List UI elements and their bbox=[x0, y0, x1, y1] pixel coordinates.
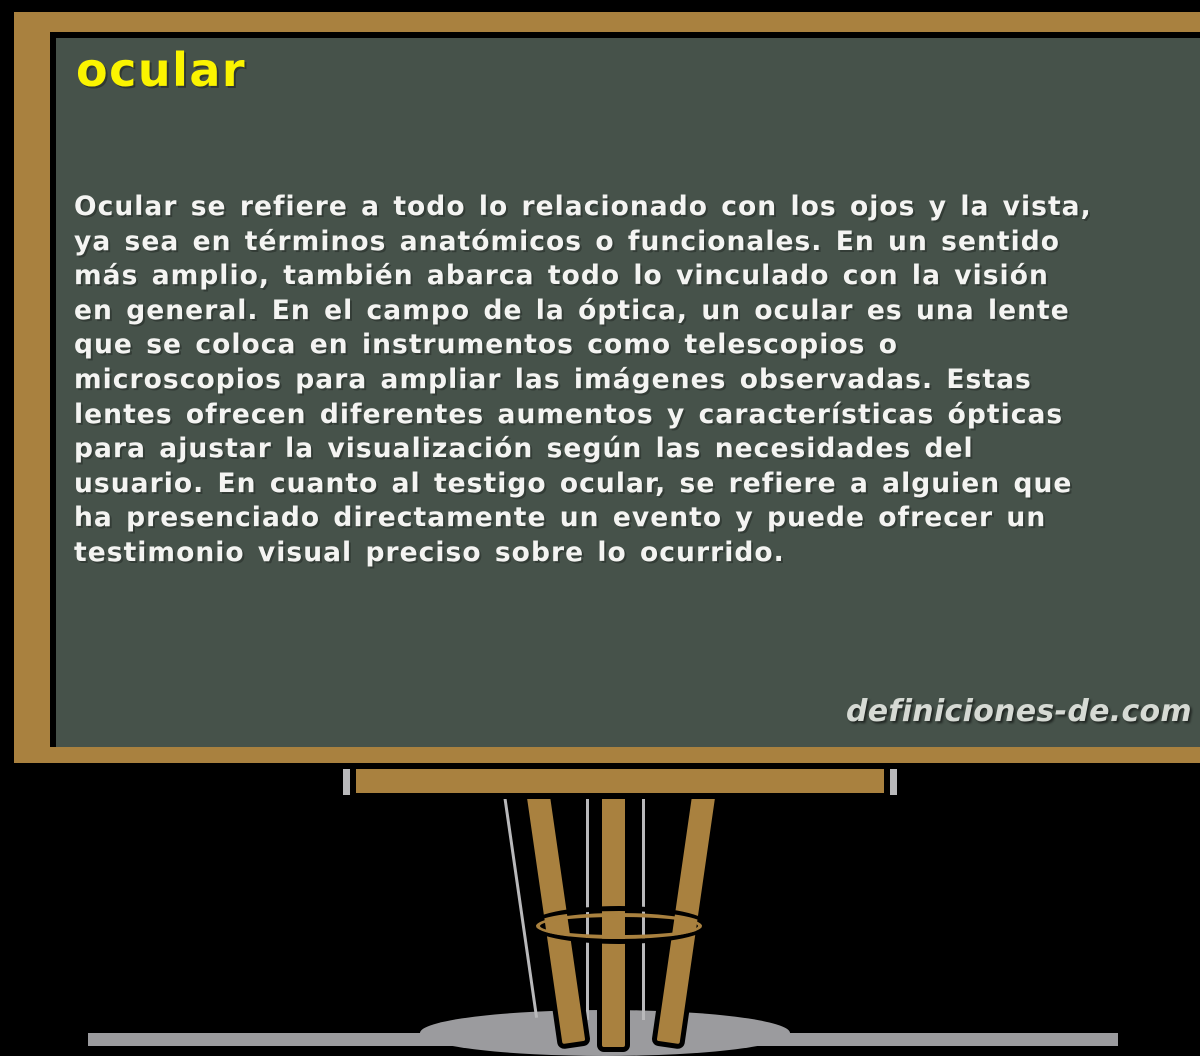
definition-line: lentes ofrecen diferentes aumentos y car… bbox=[74, 398, 1132, 433]
illustration-canvas: ocular Ocular se refiere a todo lo relac… bbox=[0, 0, 1200, 1056]
definition-line: en general. En el campo de la óptica, un… bbox=[74, 294, 1132, 329]
definition-line: ya sea en términos anatómicos o funciona… bbox=[74, 225, 1132, 260]
definition-line: que se coloca en instrumentos como teles… bbox=[74, 328, 1132, 363]
definition-line: más amplio, también abarca todo lo vincu… bbox=[74, 259, 1132, 294]
definition-line: ha presenciado directamente un evento y … bbox=[74, 501, 1132, 536]
definition-line: para ajustar la visualización según las … bbox=[74, 432, 1132, 467]
definition-line: testimonio visual preciso sobre lo ocurr… bbox=[74, 536, 1132, 571]
page-title: ocular bbox=[76, 46, 246, 94]
definition-text: Ocular se refiere a todo lo relacionado … bbox=[74, 190, 1132, 571]
site-watermark: definiciones-de.com bbox=[846, 694, 1192, 729]
chalkboard: ocular Ocular se refiere a todo lo relac… bbox=[56, 38, 1200, 747]
easel-foot-ring-inner bbox=[536, 913, 702, 939]
definition-line: Ocular se refiere a todo lo relacionado … bbox=[74, 190, 1132, 225]
definition-line: usuario. En cuanto al testigo ocular, se… bbox=[74, 467, 1132, 502]
definition-line: microscopios para ampliar las imágenes o… bbox=[74, 363, 1132, 398]
